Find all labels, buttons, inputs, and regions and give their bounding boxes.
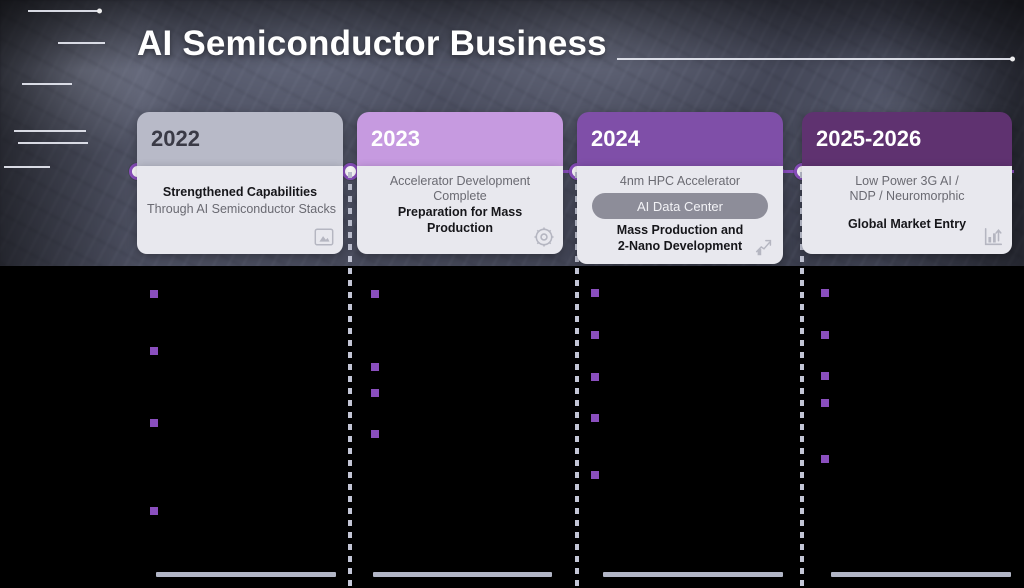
card-body: Low Power 3G AI / NDP / NeuromorphicGlob…	[802, 166, 1012, 254]
list-item-bullet	[371, 430, 379, 438]
page-title: AI Semiconductor Business	[137, 24, 607, 64]
card-year-label: 2024	[591, 126, 640, 152]
list-item-bullet	[150, 290, 158, 298]
card-2023[interactable]: 2023Accelerator Development CompletePrep…	[357, 112, 563, 254]
card-year-label: 2025-2026	[816, 126, 921, 152]
card-header: 2024	[577, 112, 783, 166]
list-item-bullet	[591, 331, 599, 339]
card-headline: Preparation for Mass Production	[367, 204, 553, 236]
column-footer-bar	[373, 572, 552, 577]
list-item-bullet	[821, 399, 829, 407]
deco-line-3	[22, 83, 72, 85]
list-item-bullet	[150, 347, 158, 355]
card-body: Strengthened CapabilitiesThrough AI Semi…	[137, 166, 343, 254]
list-item-bullet	[591, 289, 599, 297]
timeline: 2022Strengthened CapabilitiesThrough AI …	[0, 112, 1024, 588]
card-2024[interactable]: 20244nm HPC AcceleratorAI Data CenterMas…	[577, 112, 783, 264]
column-footer-bar	[603, 572, 783, 577]
list-item-bullet	[371, 363, 379, 371]
card-pill-badge[interactable]: AI Data Center	[592, 193, 768, 219]
list-item-bullet	[591, 373, 599, 381]
list-item-bullet	[371, 290, 379, 298]
card-header: 2022	[137, 112, 343, 166]
list-item-bullet	[150, 507, 158, 515]
card-body: Accelerator Development CompletePreparat…	[357, 166, 563, 254]
card-header: 2023	[357, 112, 563, 166]
card-body: 4nm HPC AcceleratorAI Data CenterMass Pr…	[577, 166, 783, 264]
column-footer-bar	[156, 572, 336, 577]
column-footer-bar	[831, 572, 1011, 577]
card-subtitle: Accelerator Development Complete	[367, 174, 553, 204]
list-item-bullet	[821, 289, 829, 297]
deco-line-top-right	[617, 58, 1014, 60]
card-2022[interactable]: 2022Strengthened CapabilitiesThrough AI …	[137, 112, 343, 254]
gear-icon	[533, 226, 555, 248]
card-year-label: 2023	[371, 126, 420, 152]
picture-frame-icon	[313, 226, 335, 248]
card-header: 2025-2026	[802, 112, 1012, 166]
hand-trend-icon	[753, 236, 775, 258]
list-item-bullet	[371, 389, 379, 397]
card-pill-label: AI Data Center	[637, 199, 723, 214]
deco-line-1	[28, 10, 101, 12]
list-item-bullet	[591, 414, 599, 422]
card-subtitle: Low Power 3G AI / NDP / Neuromorphic	[812, 174, 1002, 204]
list-item-bullet	[591, 471, 599, 479]
card-subtitle: 4nm HPC Accelerator	[587, 174, 773, 189]
card-headline: Strengthened Capabilities	[147, 184, 333, 200]
card-2025-2026[interactable]: 2025-2026Low Power 3G AI / NDP / Neuromo…	[802, 112, 1012, 254]
list-item-bullet	[821, 372, 829, 380]
card-subtitle-secondary: Through AI Semiconductor Stacks	[147, 202, 333, 217]
card-headline: Global Market Entry	[812, 216, 1002, 232]
deco-line-2	[58, 42, 105, 44]
list-item-bullet	[150, 419, 158, 427]
card-headline: Mass Production and 2-Nano Development	[587, 222, 773, 254]
column-separator	[348, 172, 352, 588]
list-item-bullet	[821, 455, 829, 463]
bar-chart-arrow-icon	[982, 226, 1004, 248]
list-item-bullet	[821, 331, 829, 339]
card-year-label: 2022	[151, 126, 200, 152]
